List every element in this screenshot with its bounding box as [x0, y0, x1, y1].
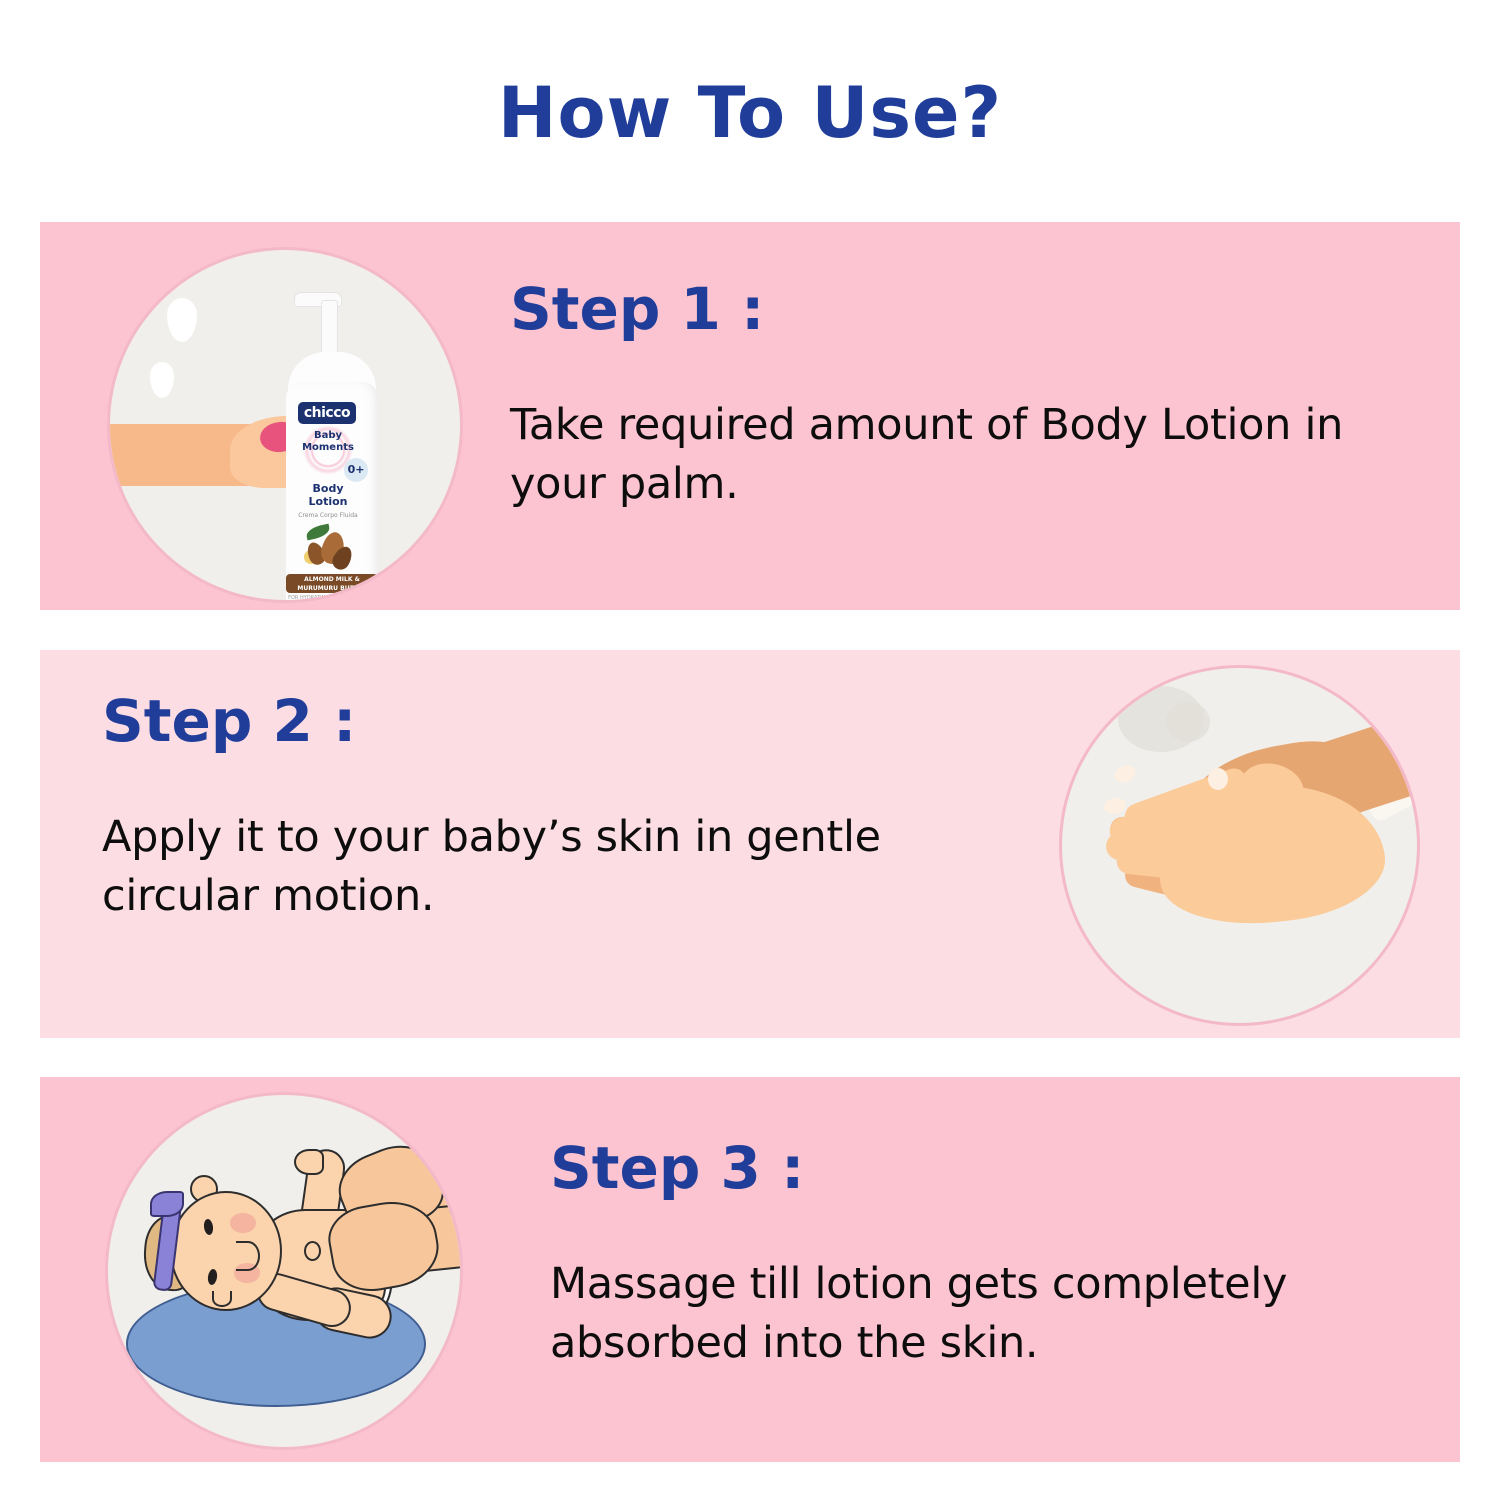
step-panel-1: chicco Baby Moments 0+ Body Lotion Crema…: [40, 222, 1460, 610]
step-panel-3: Step 3 : Massage till lotion gets comple…: [40, 1077, 1460, 1462]
bottle-range-name: Baby Moments: [292, 430, 364, 453]
step-1-illustration: chicco Baby Moments 0+ Body Lotion Crema…: [110, 250, 460, 600]
step-panel-2: Step 2 : Apply it to your baby’s skin in…: [40, 650, 1460, 1038]
baby-cheek: [230, 1213, 256, 1233]
thumbnail-shape: [1208, 768, 1228, 790]
lotion-bottle: chicco Baby Moments 0+ Body Lotion Crema…: [278, 286, 388, 600]
step-3-heading: Step 3 :: [550, 1139, 1450, 1197]
step-2-heading: Step 2 :: [102, 692, 1022, 750]
bottle-product-name: Body Lotion: [292, 482, 364, 508]
almond-nut-icon: [304, 526, 354, 570]
how-to-use-infographic: How To Use? chicco Baby: [0, 0, 1500, 1500]
bottle-range-line1: Baby: [292, 430, 364, 442]
bottle-product-line1: Body: [292, 482, 364, 495]
bottle-range-line2: Moments: [292, 442, 364, 454]
droplet-icon: [167, 298, 197, 342]
step-2-illustration: [1062, 668, 1417, 1023]
step-1-text-block: Step 1 : Take required amount of Body Lo…: [510, 280, 1410, 515]
droplet-icon: [150, 362, 174, 398]
baby-hair-bow: [150, 1191, 184, 1217]
bottle-claim-text: FOR HYDRATING BABY'S SKIN EASY ABSORB FO…: [286, 595, 378, 600]
step-2-image: [1062, 668, 1417, 1023]
step-3-text-block: Step 3 : Massage till lotion gets comple…: [550, 1139, 1450, 1374]
bottle-age-badge: 0+: [344, 458, 368, 482]
step-3-illustration: [108, 1095, 460, 1447]
fingernail-shape: [1112, 762, 1138, 785]
bottle-brand-logo: chicco: [298, 402, 356, 424]
step-1-heading: Step 1 :: [510, 280, 1410, 338]
baby-nose: [236, 1241, 260, 1271]
baby-navel: [304, 1241, 321, 1261]
bottle-product-line2: Lotion: [292, 495, 364, 508]
step-1-image: chicco Baby Moments 0+ Body Lotion Crema…: [110, 250, 460, 600]
fingernail-shape: [1103, 796, 1128, 816]
step-3-image: [108, 1095, 460, 1447]
step-2-text-block: Step 2 : Apply it to your baby’s skin in…: [102, 692, 1022, 927]
bottle-product-subtitle: Crema Corpo Fluida: [288, 512, 368, 519]
baby-mouth: [212, 1291, 232, 1307]
highlight-shape: [1166, 702, 1210, 742]
step-2-body: Apply it to your baby’s skin in gentle c…: [102, 808, 1022, 927]
bottle-ingredient-banner: ALMOND MILK & MURUMURU BUTTER: [286, 574, 378, 593]
baby-foot: [294, 1149, 324, 1175]
step-3-body: Massage till lotion gets completely abso…: [550, 1255, 1450, 1374]
page-title: How To Use?: [0, 78, 1500, 148]
pump-neck: [321, 300, 338, 360]
step-1-body: Take required amount of Body Lotion in y…: [510, 396, 1410, 515]
